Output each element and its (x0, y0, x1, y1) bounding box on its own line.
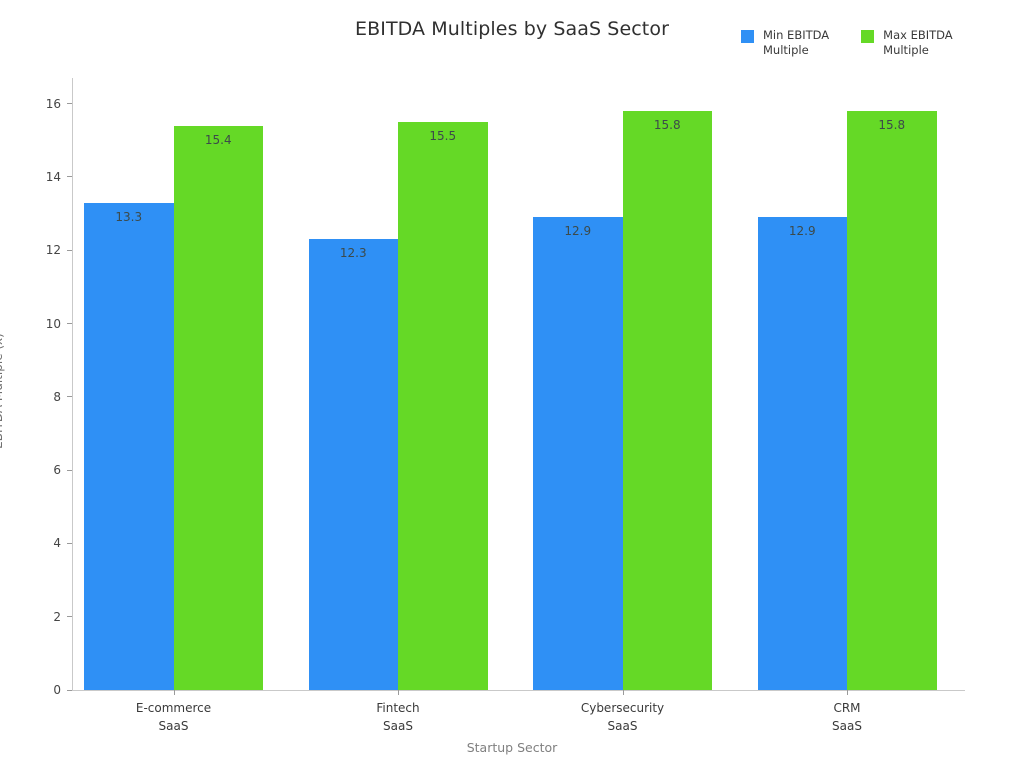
y-axis-tick-mark (67, 616, 72, 617)
y-axis-tick: 14 (46, 170, 72, 184)
bar-max[interactable]: 15.8 (847, 111, 937, 690)
bar-min[interactable]: 12.9 (758, 217, 848, 690)
y-axis-tick-mark (67, 690, 72, 691)
y-axis-tick: 2 (53, 610, 72, 624)
legend-swatch-min-icon (741, 30, 754, 43)
y-axis-tick-label: 12 (46, 243, 67, 257)
y-axis-title: EBITDA Multiple (x) (0, 333, 5, 449)
x-axis-tick-mark (623, 690, 624, 695)
y-axis-tick-label: 14 (46, 170, 67, 184)
y-axis-tick: 8 (53, 390, 72, 404)
y-axis-tick: 16 (46, 97, 72, 111)
legend-item-max-ebitda-multiple[interactable]: Max EBITDA Multiple (861, 28, 953, 58)
x-axis-title: Startup Sector (0, 740, 1024, 755)
y-axis-tick: 0 (53, 683, 72, 697)
bar-min[interactable]: 12.3 (309, 239, 399, 690)
y-axis-tick-label: 10 (46, 317, 67, 331)
legend-label-max: Max EBITDA Multiple (883, 28, 953, 58)
bar-value-label: 15.4 (174, 133, 264, 147)
bar-min[interactable]: 13.3 (84, 203, 174, 690)
y-axis-tick-mark (67, 250, 72, 251)
bar-value-label: 15.8 (623, 118, 713, 132)
y-axis-tick-label: 2 (53, 610, 67, 624)
y-axis-tick-mark (67, 396, 72, 397)
y-axis-tick-label: 16 (46, 97, 67, 111)
x-axis-line (72, 690, 965, 691)
bar-value-label: 13.3 (84, 210, 174, 224)
bar-min[interactable]: 12.9 (533, 217, 623, 690)
y-axis-tick-mark (67, 103, 72, 104)
legend-swatch-max-icon (861, 30, 874, 43)
y-axis-tick-mark (67, 176, 72, 177)
y-axis-tick: 12 (46, 243, 72, 257)
x-axis-tick-label: Fintech SaaS (376, 699, 419, 735)
y-axis-tick-label: 8 (53, 390, 67, 404)
bar-value-label: 12.3 (309, 246, 399, 260)
y-axis-tick-mark (67, 323, 72, 324)
y-axis-tick: 6 (53, 463, 72, 477)
plot-area: 024681012141613.312.312.912.915.415.515.… (72, 78, 965, 690)
chart-legend: Min EBITDA Multiple Max EBITDA Multiple (741, 28, 953, 58)
bar-value-label: 12.9 (758, 224, 848, 238)
x-axis-tick-label: Cybersecurity SaaS (581, 699, 664, 735)
ebitda-multiples-bar-chart: EBITDA Multiples by SaaS Sector Min EBIT… (0, 0, 1024, 768)
y-axis-tick: 10 (46, 317, 72, 331)
bar-max[interactable]: 15.8 (623, 111, 713, 690)
y-axis-tick-label: 4 (53, 536, 67, 550)
y-axis-tick-mark (67, 543, 72, 544)
bar-value-label: 15.5 (398, 129, 488, 143)
x-axis-tick-mark (174, 690, 175, 695)
y-axis-tick-mark (67, 470, 72, 471)
legend-label-min: Min EBITDA Multiple (763, 28, 829, 58)
x-axis-tick-mark (847, 690, 848, 695)
bar-value-label: 15.8 (847, 118, 937, 132)
legend-item-min-ebitda-multiple[interactable]: Min EBITDA Multiple (741, 28, 829, 58)
y-axis-tick: 4 (53, 536, 72, 550)
bar-max[interactable]: 15.5 (398, 122, 488, 690)
x-axis-tick-mark (398, 690, 399, 695)
x-axis-tick-label: CRM SaaS (832, 699, 862, 735)
y-axis-tick-label: 6 (53, 463, 67, 477)
bar-max[interactable]: 15.4 (174, 126, 264, 690)
bar-value-label: 12.9 (533, 224, 623, 238)
y-axis-tick-label: 0 (53, 683, 67, 697)
x-axis-tick-label: E-commerce SaaS (136, 699, 211, 735)
